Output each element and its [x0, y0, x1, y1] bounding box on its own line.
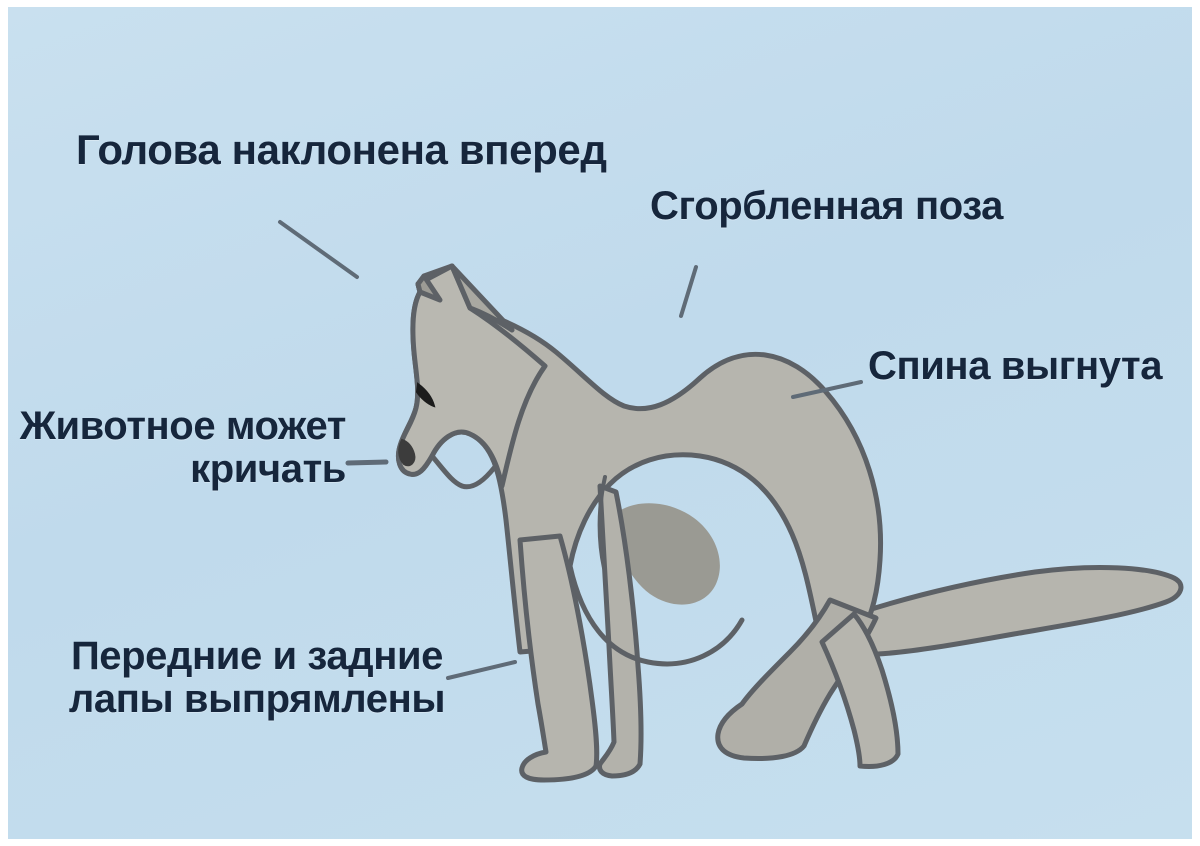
- leader-line-scream: [348, 462, 386, 463]
- leader-line-paws: [448, 662, 515, 678]
- leader-line-posture: [681, 267, 696, 316]
- label-hunched-posture: Сгорбленная поза: [650, 185, 1003, 228]
- leader-line-head: [280, 222, 357, 277]
- label-arched-back: Спина выгнута: [868, 345, 1162, 388]
- cat-tail: [852, 567, 1181, 654]
- label-front-and-hind-paws-straight: Передние и задние лапы выпрямлены: [62, 635, 452, 721]
- label-head-tilted-forward: Голова наклонена вперед: [76, 127, 607, 172]
- label-animal-may-scream: Животное может кричать: [16, 405, 346, 491]
- cat-mouth-line: [432, 456, 494, 487]
- cat-front-leg-front: [520, 536, 597, 780]
- illustration-canvas: Голова наклонена вперед Сгорбленная поза…: [0, 0, 1200, 846]
